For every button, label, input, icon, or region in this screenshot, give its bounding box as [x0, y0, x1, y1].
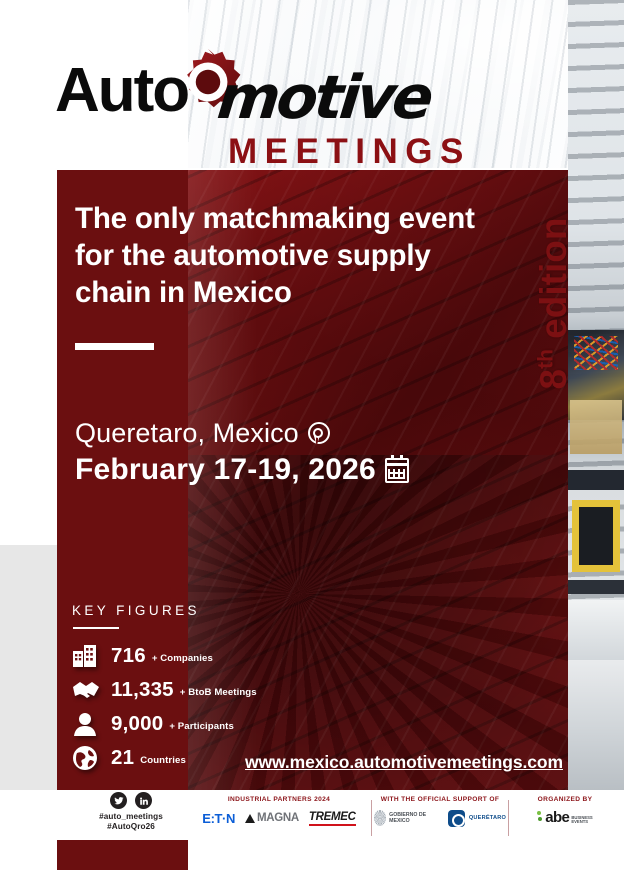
twitter-icon[interactable] [110, 792, 127, 809]
edition-number: 8 [533, 369, 574, 390]
key-figure-value: 716 [111, 644, 146, 668]
event-dates-row: February 17-19, 2026 [75, 453, 409, 487]
magna-logo-text: MAGNA [257, 812, 299, 824]
abe-logo: abe BUSINESSEVENTS [537, 811, 592, 825]
queretaro-logo: QUERÉTARO [448, 810, 506, 827]
tremec-logo: TREMEC [309, 811, 356, 826]
footer-red-bar [57, 840, 188, 870]
website-link[interactable]: www.mexico.automotivemeetings.com [245, 752, 563, 773]
industrial-partners-block: INDUSTRIAL PARTNERS 2024 E:T·N MAGNA TRE… [190, 796, 368, 829]
buildings-icon [72, 643, 100, 669]
organized-by-block: ORGANIZED BY abe BUSINESSEVENTS [512, 796, 618, 829]
hashtag-primary: #auto_meetings [88, 812, 174, 822]
key-figures-title: KEY FIGURES [72, 603, 257, 618]
edition-suffix: th [535, 349, 558, 369]
official-support-title: WITH THE OFFICIAL SUPPORT OF [374, 796, 506, 803]
gobierno-mexico-logo: GOBIERNO DE MEXICO [374, 810, 434, 826]
automotive-meetings-logo: Auto motive MEETINGS [55, 38, 450, 158]
key-figure-label: + Companies [152, 653, 213, 664]
footer-divider [371, 800, 372, 836]
event-location-row: Queretaro, Mexico [75, 418, 409, 449]
footer-divider [508, 800, 509, 836]
industrial-partners-title: INDUSTRIAL PARTNERS 2024 [190, 796, 368, 803]
key-figure-label: + BtoB Meetings [180, 687, 257, 698]
map-pin-icon [306, 421, 328, 447]
handshake-icon [72, 677, 100, 703]
key-figure-label: + Participants [169, 721, 234, 732]
key-figure-row: 716 + Companies [72, 641, 257, 672]
official-support-block: WITH THE OFFICIAL SUPPORT OF GOBIERNO DE… [374, 796, 506, 829]
abe-logo-text: abe [545, 811, 569, 825]
key-figure-value: 11,335 [111, 678, 174, 702]
key-figures-section: KEY FIGURES 716 + Companies [72, 603, 257, 777]
poster-root: Auto motive MEETINGS The only matchmakin… [0, 0, 624, 870]
social-block: #auto_meetings #AutoQro26 [88, 792, 174, 832]
machinery-photo-strip [568, 0, 624, 790]
eaton-logo: E:T·N [202, 811, 235, 826]
event-location-text: Queretaro, Mexico [75, 418, 299, 449]
logo-meetings-text: MEETINGS [228, 134, 471, 169]
key-figure-label: Countries [140, 755, 186, 766]
key-figure-row: 11,335 + BtoB Meetings [72, 675, 257, 706]
edition-badge: 8th edition [519, 175, 573, 390]
organized-by-title: ORGANIZED BY [512, 796, 618, 803]
event-details: Queretaro, Mexico February 17-19, 2026 [75, 418, 409, 487]
key-figure-row: 21 Countries [72, 743, 257, 774]
page-title: The only matchmaking event for the autom… [75, 200, 505, 311]
edition-word: edition [533, 218, 574, 339]
logo-motive-text: motive [215, 68, 433, 128]
linkedin-icon[interactable] [135, 792, 152, 809]
key-figure-value: 9,000 [111, 712, 163, 736]
globe-icon [72, 745, 100, 771]
hashtag-secondary: #AutoQro26 [88, 822, 174, 832]
event-dates-text: February 17-19, 2026 [75, 453, 376, 487]
calendar-icon [385, 458, 409, 483]
key-figure-value: 21 [111, 746, 134, 770]
logo-auto-text: Auto [55, 60, 188, 122]
person-icon [72, 711, 100, 737]
gobierno-mexico-logo-text: GOBIERNO DE MEXICO [389, 812, 434, 824]
magna-logo: MAGNA [245, 812, 299, 824]
key-figures-rule [73, 627, 119, 629]
key-figure-row: 9,000 + Participants [72, 709, 257, 740]
title-underline-rule [75, 343, 154, 350]
queretaro-logo-text: QUERÉTARO [469, 815, 506, 822]
